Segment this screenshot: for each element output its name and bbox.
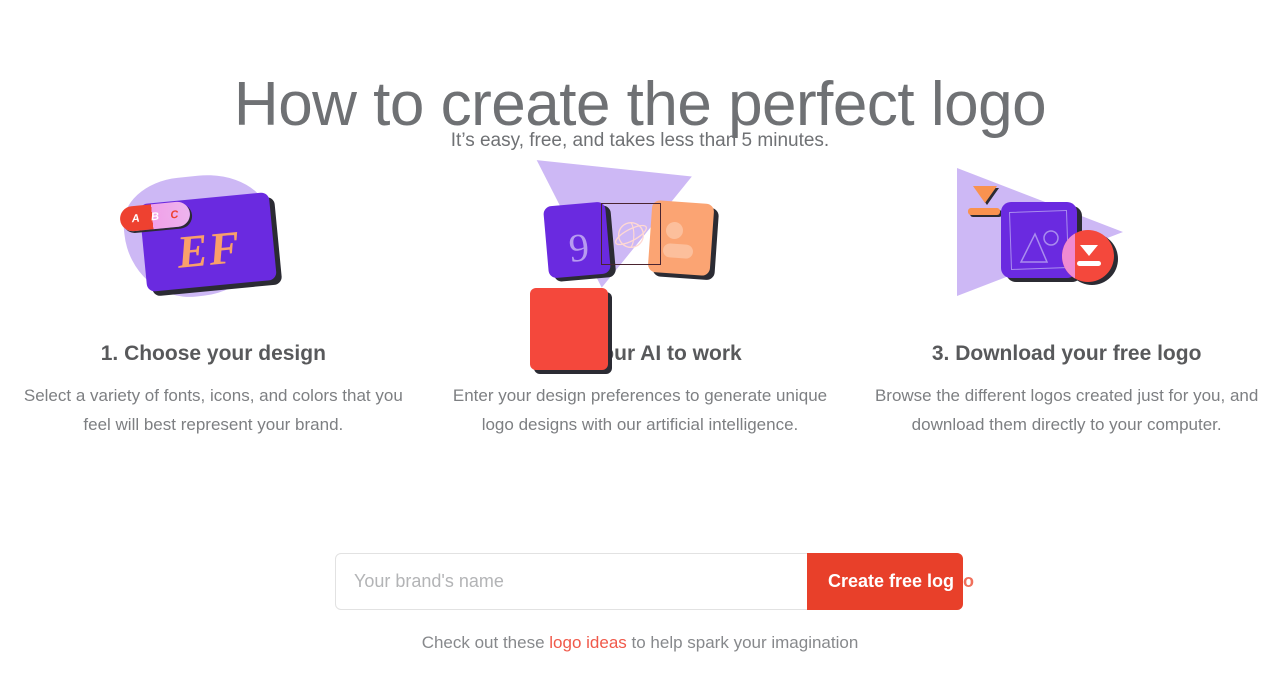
footnote-text-before: Check out these: [422, 633, 550, 652]
red-card-icon: [530, 288, 608, 370]
logo-creation-form: Create free log o: [335, 553, 963, 610]
small-download-arrow-icon: [973, 186, 997, 203]
create-free-logo-label: Create free log: [828, 553, 954, 610]
globe-icon: [612, 216, 650, 254]
footnote-text-after: to help spark your imagination: [627, 633, 859, 652]
download-arrow-icon: [1080, 245, 1098, 256]
step-3: 3. Download your free logo Browse the di…: [853, 168, 1280, 439]
tag-letter-a: A: [131, 212, 140, 225]
page-root: How to create the perfect logo It’s easy…: [0, 0, 1280, 689]
create-free-logo-label-overflow: o: [963, 553, 974, 610]
person-icon-body: [663, 243, 694, 259]
page-subtitle: It’s easy, free, and takes less than 5 m…: [0, 127, 1280, 155]
logo-ideas-link[interactable]: logo ideas: [549, 633, 627, 652]
steps-row: EF A B C 1. Choose your design Select a …: [0, 168, 1280, 439]
step-2-body: Enter your design preferences to generat…: [440, 381, 840, 439]
step-1: EF A B C 1. Choose your design Select a …: [0, 168, 427, 439]
design-card-illustration: EF A B C: [103, 168, 323, 318]
tag-letter-c: C: [170, 208, 179, 221]
download-bar-icon: [1077, 261, 1101, 266]
download-illustration: [957, 168, 1177, 318]
step-1-title: 1. Choose your design: [101, 340, 326, 368]
logo-ideas-footnote: Check out these logo ideas to help spark…: [0, 630, 1280, 656]
tag-letter-b: B: [151, 210, 160, 223]
ai-cards-illustration: 9: [530, 168, 750, 318]
small-download-bar-icon: [968, 208, 1000, 215]
download-badge-icon: [1062, 230, 1114, 282]
badge-pink-edge: [1062, 230, 1075, 282]
step-3-body: Browse the different logos created just …: [872, 381, 1262, 439]
step-3-title: 3. Download your free logo: [932, 340, 1202, 368]
create-free-logo-button[interactable]: Create free log o: [807, 553, 963, 610]
step-2: 9 2. Put our AI to work Enter your desig…: [427, 168, 854, 439]
step-1-body: Select a variety of fonts, icons, and co…: [13, 381, 413, 439]
